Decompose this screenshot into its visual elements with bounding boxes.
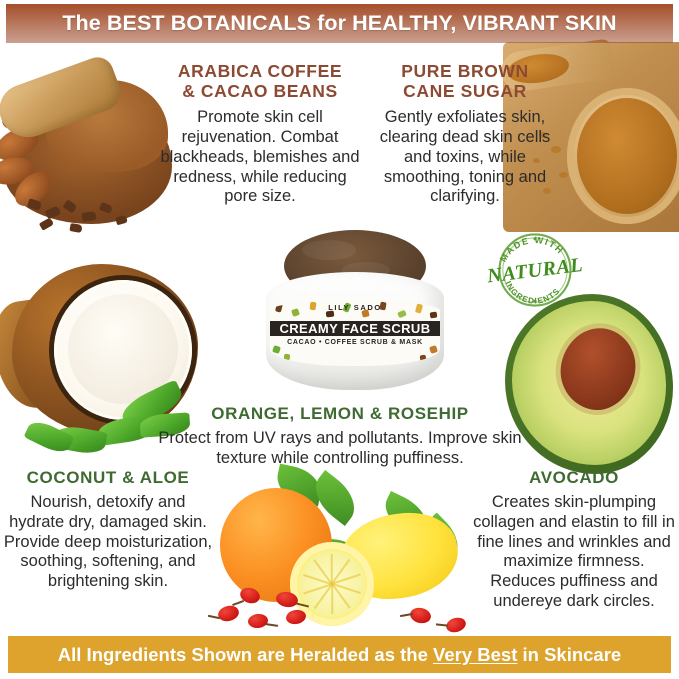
citrus-and-rosehip-image [214, 466, 478, 638]
ingredient-heading-avocado: AVOCADO [470, 468, 678, 487]
ingredient-heading-sugar: PURE BROWN CANE SUGAR [372, 62, 558, 101]
ingredient-body-sugar: Gently exfoliates skin, clearing dead sk… [372, 108, 558, 207]
ingredient-block-avocado: AVOCADO Creates skin-plumping collagen a… [470, 468, 678, 612]
ingredient-body-avocado: Creates skin-plumping collagen and elast… [470, 493, 678, 612]
ingredient-body-coconut: Nourish, detoxify and hydrate dry, damag… [2, 493, 214, 592]
made-with-natural-ingredients-stamp: MADE WITH INGREDIENTS NATURAL [487, 222, 583, 318]
ingredient-block-coconut: COCONUT & ALOE Nourish, detoxify and hyd… [2, 468, 214, 592]
footer-text-underlined: Very Best [433, 644, 517, 665]
ingredient-body-citrus: Protect from UV rays and pollutants. Imp… [150, 429, 530, 469]
product-brand: LILY SADO [270, 303, 440, 312]
footer-text-before: All Ingredients Shown are Heralded as th… [58, 644, 433, 665]
footer-text-after: in Skincare [517, 644, 621, 665]
cacao-powder-image [0, 36, 180, 236]
header-banner: The BEST BOTANICALS for HEALTHY, VIBRANT… [6, 4, 673, 43]
ingredient-heading-coconut: COCONUT & ALOE [2, 468, 214, 487]
footer-text: All Ingredients Shown are Heralded as th… [58, 644, 621, 666]
ingredient-block-citrus: ORANGE, LEMON & ROSEHIP Protect from UV … [150, 404, 530, 469]
product-label: LILY SADO CREAMY FACE SCRUB CACAO • COFF… [270, 300, 440, 366]
ingredient-body-coffee: Promote skin cell rejuvenation. Combat b… [158, 108, 362, 207]
product-subtitle: CACAO • COFFEE SCRUB & MASK [270, 339, 440, 346]
ingredient-block-coffee: ARABICA COFFEE & CACAO BEANS Promote ski… [158, 62, 362, 207]
infographic-canvas: MADE WITH INGREDIENTS NATURAL [0, 0, 679, 679]
ingredient-heading-coffee: ARABICA COFFEE & CACAO BEANS [158, 62, 362, 101]
header-title: The BEST BOTANICALS for HEALTHY, VIBRANT… [62, 11, 616, 36]
ingredient-heading-citrus: ORANGE, LEMON & ROSEHIP [150, 404, 530, 423]
product-jar-image: LILY SADO CREAMY FACE SCRUB CACAO • COFF… [258, 228, 452, 394]
product-name: CREAMY FACE SCRUB [270, 321, 440, 336]
ingredient-block-sugar: PURE BROWN CANE SUGAR Gently exfoliates … [372, 62, 558, 207]
footer-banner: All Ingredients Shown are Heralded as th… [8, 636, 671, 673]
